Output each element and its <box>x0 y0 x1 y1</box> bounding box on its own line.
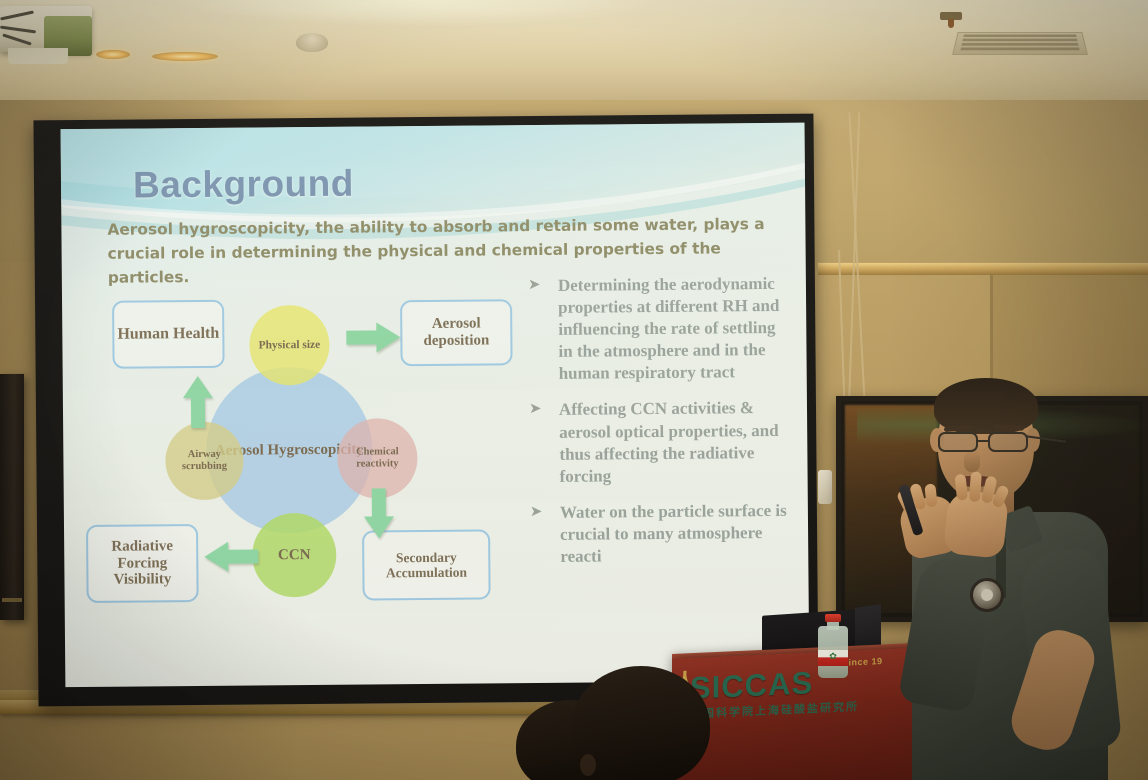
diagram-arrow-down <box>362 488 396 545</box>
glasses-temple <box>1026 435 1066 443</box>
eyeglasses-icon <box>936 432 1036 452</box>
diagram-node-label: Chemical reactivity <box>337 446 417 470</box>
bullet-item: ➤ Water on the particle surface is cruci… <box>526 500 795 569</box>
lens-left <box>938 432 978 452</box>
chevron-right-icon: ➤ <box>530 504 543 519</box>
slide-bullet-list: ➤ Determining the aerodynamic properties… <box>524 273 795 582</box>
diagram-node-label: Secondary Accumulation <box>364 549 488 580</box>
arrow-down-icon <box>362 488 396 540</box>
diagram-node-label: Aerosol deposition <box>402 315 510 350</box>
smoke-detector <box>296 33 328 52</box>
diagram-node-label: CCN <box>278 547 311 564</box>
speaker-person <box>900 380 1120 780</box>
diagram-node-physical-size: Physical size <box>249 305 330 386</box>
bottle-cap <box>825 614 841 622</box>
diagram-arrow-left <box>202 539 258 578</box>
diagram-node-ccn: CCN <box>252 513 337 598</box>
bullet-text: Affecting CCN activities & aerosol optic… <box>559 397 794 487</box>
chevron-right-icon: ➤ <box>528 277 541 292</box>
hygroscopicity-diagram: Aerosol Hygroscopicity Physical size Air… <box>82 283 515 677</box>
audience-ear <box>580 754 596 776</box>
bullet-item: ➤ Determining the aerodynamic properties… <box>524 273 793 386</box>
finger <box>969 471 982 502</box>
diagram-node-label: Physical size <box>259 338 321 351</box>
diagram-arrow-right <box>346 320 402 359</box>
diagram-node-human-health: Human Health <box>112 300 225 369</box>
ceiling-glow <box>180 0 660 26</box>
water-bottle: ✿ <box>818 614 848 678</box>
bottle-leaf-icon: ✿ <box>828 652 838 660</box>
diagram-node-radiative-forcing: Radiative Forcing Visibility <box>86 524 199 603</box>
projection-screen-frame: Background Aerosol hygroscopicity, the a… <box>33 114 818 707</box>
diagram-arrow-up <box>181 374 216 435</box>
podium-logo: 人 Since 19 SICCAS 中国科学院上海硅酸盐研究所 <box>690 663 900 722</box>
glasses-bridge <box>978 440 990 442</box>
fire-sprinkler <box>940 12 962 20</box>
chevron-right-icon: ➤ <box>529 401 542 416</box>
lens-right <box>988 432 1028 452</box>
photo-scene: Background Aerosol hygroscopicity, the a… <box>0 0 1148 780</box>
bullet-item: ➤ Affecting CCN activities & aerosol opt… <box>525 397 794 488</box>
diagram-node-label: Human Health <box>117 325 219 344</box>
diagram-node-aerosol-deposition: Aerosol deposition <box>400 299 513 366</box>
arrow-right-icon <box>346 320 402 354</box>
slide-title: Background <box>133 163 354 207</box>
diagram-node-chemical-reactivity: Chemical reactivity <box>337 418 418 499</box>
bullet-text: Water on the particle surface is crucial… <box>560 500 795 568</box>
finger <box>924 483 937 507</box>
speaker-right-hand <box>943 489 1009 559</box>
downlight-2 <box>152 52 218 61</box>
projected-slide: Background Aerosol hygroscopicity, the a… <box>61 123 810 687</box>
speaker-nose <box>964 450 980 472</box>
diagram-node-label: Radiative Forcing Visibility <box>88 538 196 589</box>
tv-side-bracket <box>818 470 832 504</box>
audience-head-right <box>572 666 710 780</box>
wall-speaker-panel <box>0 374 24 620</box>
projector-mount <box>8 48 68 64</box>
diagram-node-label: Airway scrubbing <box>165 449 243 473</box>
bullet-text: Determining the aerodynamic properties a… <box>558 273 793 386</box>
downlight-1 <box>96 50 130 59</box>
arrow-up-icon <box>181 374 215 430</box>
hvac-vent <box>952 32 1088 55</box>
arrow-left-icon <box>202 539 258 573</box>
